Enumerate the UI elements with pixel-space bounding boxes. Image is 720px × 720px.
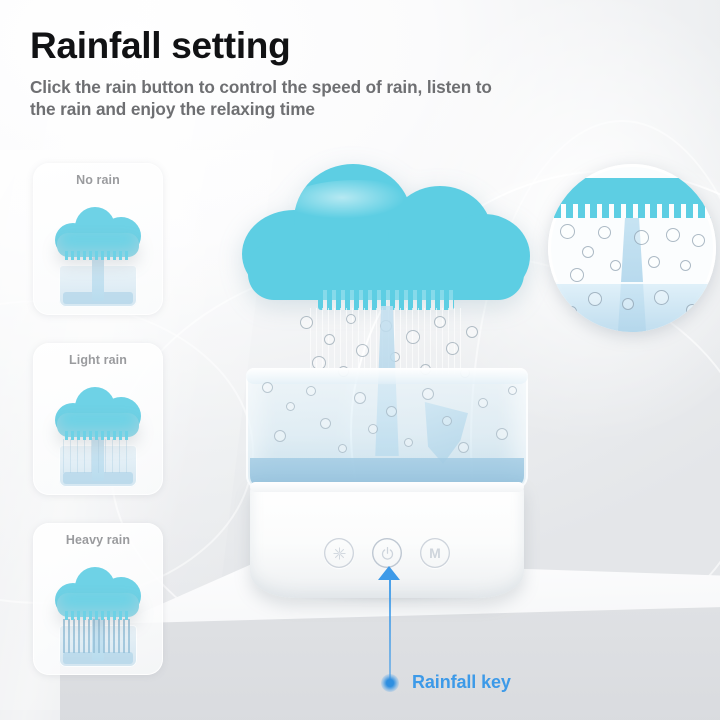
detail-zoom-circle	[548, 164, 716, 332]
thumb-cloud-icon	[55, 565, 141, 617]
mode-thumbnail-image	[33, 371, 163, 495]
mode-card-heavy-rain[interactable]: Heavy rain	[33, 523, 163, 675]
callout-label: Rainfall key	[412, 672, 511, 693]
header: Rainfall setting Click the rain button t…	[30, 26, 500, 120]
product-base-lip	[250, 482, 524, 492]
rain-mode-list: No rain Light rain	[33, 163, 163, 703]
product-image: M	[236, 150, 536, 600]
thumb-nozzle	[65, 611, 129, 620]
product-infographic: Rainfall setting Click the rain button t…	[0, 0, 720, 720]
thumb-cloud-icon	[55, 385, 141, 437]
thumb-cloud-icon	[55, 205, 141, 257]
mode-card-no-rain[interactable]: No rain	[33, 163, 163, 315]
callout-dot-icon	[381, 674, 399, 692]
tank-condensation-droplets	[246, 372, 528, 488]
mode-label: Light rain	[33, 353, 163, 367]
mode-icon: M	[429, 546, 441, 560]
thumb-rain-streaks	[63, 619, 131, 653]
snowflake-icon	[332, 546, 347, 561]
power-button[interactable]	[372, 538, 402, 568]
page-title: Rainfall setting	[30, 26, 500, 65]
zoom-droplets	[548, 164, 716, 332]
thumb-nozzle	[65, 431, 129, 440]
cloud-top-icon	[242, 158, 530, 298]
mode-card-light-rain[interactable]: Light rain	[33, 343, 163, 495]
page-subtitle: Click the rain button to control the spe…	[30, 76, 500, 120]
mode-thumbnail-image	[33, 191, 163, 315]
light-button[interactable]	[324, 538, 354, 568]
thumb-stem	[92, 257, 104, 301]
thumb-rain-streaks	[63, 439, 131, 473]
mode-label: No rain	[33, 173, 163, 187]
thumb-nozzle	[65, 251, 129, 260]
mode-label: Heavy rain	[33, 533, 163, 547]
callout-line	[389, 576, 391, 680]
mode-button[interactable]: M	[420, 538, 450, 568]
mode-thumbnail-image	[33, 551, 163, 675]
power-icon	[380, 546, 395, 561]
